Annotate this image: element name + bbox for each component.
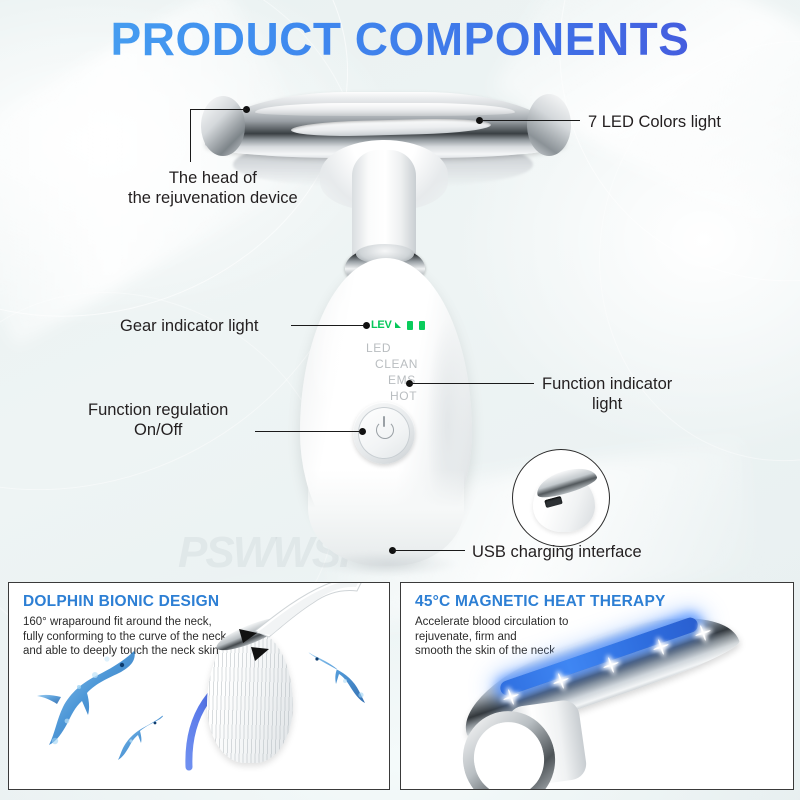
head-metal-bar [205, 92, 565, 158]
chrome-collar-top [356, 244, 414, 264]
callout-led-colors: 7 LED Colors light [588, 112, 721, 132]
panel-title: DOLPHIN BIONIC DESIGN [23, 593, 219, 611]
callout-gear-indicator: Gear indicator light [120, 316, 259, 336]
level-bar-icon [419, 321, 425, 330]
head-led-groove [291, 117, 491, 137]
leader-line [190, 109, 246, 110]
level-bar-icon [407, 321, 413, 330]
function-label-list: LED CLEAN EMS HOT [366, 340, 452, 404]
device-bottom-chrome [533, 462, 599, 501]
device-stem-flare [320, 140, 448, 210]
callout-function-regulation: Function regulation On/Off [88, 400, 228, 440]
leader-line [255, 431, 361, 432]
leader-line [410, 383, 534, 384]
leader-line [291, 325, 365, 326]
head-cap-left [201, 96, 245, 156]
usb-magnifier-inset [512, 449, 610, 547]
callout-usb: USB charging interface [472, 542, 642, 562]
power-icon [376, 421, 394, 439]
head-cap-right [527, 94, 571, 156]
device-body [300, 258, 472, 558]
chrome-collar [345, 248, 425, 288]
product-illustration: LEV LED CLEAN EMS HOT [0, 0, 800, 580]
level-label: LEV [371, 319, 392, 331]
level-triangle-icon [395, 322, 401, 328]
leader-line [393, 550, 465, 551]
leader-line [190, 109, 191, 162]
level-indicator: LEV [371, 319, 425, 331]
device-bottom-view [533, 474, 595, 532]
panel-magnetic-heat-therapy: 45°C MAGNETIC HEAT THERAPY Accelerate bl… [400, 582, 794, 790]
leader-line [480, 120, 580, 121]
watermark: PSWWSP [178, 528, 366, 578]
function-label-clean: CLEAN [375, 356, 452, 372]
function-label-ems: EMS [388, 372, 452, 388]
callout-head: The head of the rejuvenation device [128, 168, 298, 208]
panel-dolphin-bionic-design: DOLPHIN BIONIC DESIGN 160° wraparound fi… [8, 582, 390, 790]
usb-port-icon [544, 496, 562, 508]
background-wisp [0, 0, 456, 588]
function-label-led: LED [366, 340, 452, 356]
callout-function-indicator: Function indicator light [542, 374, 672, 414]
dolphin-icon [305, 645, 379, 707]
page-title: PRODUCT COMPONENTS [0, 16, 800, 62]
dolphin-icon [107, 711, 169, 761]
infographic-page: PRODUCT COMPONENTS PSWWSP LEV LED CLEAN [0, 0, 800, 800]
function-label-hot: HOT [390, 388, 452, 404]
background-wisp [560, 5, 800, 497]
direction-arrow-icon [237, 623, 279, 665]
device-stem [352, 150, 416, 270]
